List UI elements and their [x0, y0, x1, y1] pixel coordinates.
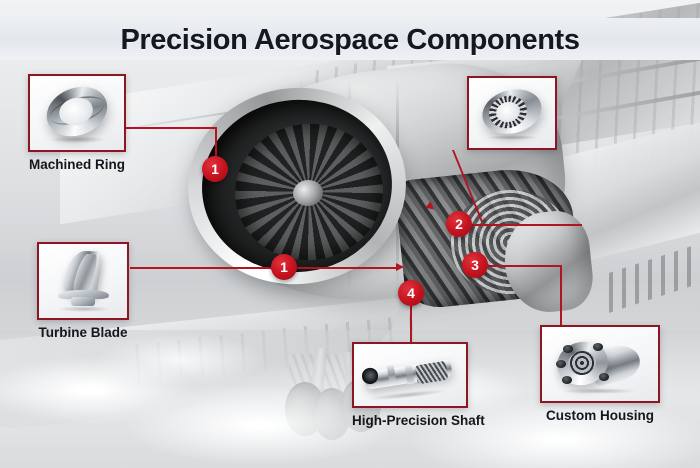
callout-machined-ring[interactable]: Machined Ring [28, 74, 126, 172]
marker-1-top[interactable]: 1 [202, 156, 228, 182]
machined-ring-icon [30, 76, 124, 150]
custom-housing-label: Custom Housing [540, 408, 660, 423]
turbine-blade-image-box[interactable] [37, 242, 129, 320]
leader-line-blade-h2 [297, 267, 397, 269]
machined-ring-label: Machined Ring [28, 157, 126, 172]
leader-line-shaft-v [410, 306, 412, 342]
marker-1-lower[interactable]: 1 [271, 254, 297, 280]
leader-arrow-blade [396, 263, 404, 271]
turbine-blade-icon [39, 244, 127, 318]
page-title: Precision Aerospace Components [0, 20, 700, 60]
callout-ball-bearing[interactable] [467, 76, 557, 155]
marker-3[interactable]: 3 [462, 252, 488, 278]
leader-line-housing-h [488, 265, 560, 267]
leader-line-housing-v [560, 265, 562, 325]
turbine-blade-label: Turbine Blade [37, 325, 129, 340]
marker-2[interactable]: 2 [446, 211, 472, 237]
precision-shaft-image-box[interactable] [352, 342, 468, 408]
precision-shaft-label: High-Precision Shaft [352, 413, 468, 428]
ball-bearing-icon [469, 78, 555, 148]
custom-housing-icon [542, 327, 658, 401]
leader-line-ring-h [125, 127, 217, 129]
custom-housing-image-box[interactable] [540, 325, 660, 403]
callout-precision-shaft[interactable]: High-Precision Shaft [352, 342, 468, 428]
callout-custom-housing[interactable]: Custom Housing [540, 325, 660, 423]
callout-turbine-blade[interactable]: Turbine Blade [37, 242, 129, 340]
leader-line-blade-h [130, 267, 275, 269]
marker-4[interactable]: 4 [398, 280, 424, 306]
leader-line-marker2-h [472, 224, 582, 226]
infographic-canvas: Precision Aerospace Components 1 1 2 3 4… [0, 0, 700, 468]
ball-bearing-image-box[interactable] [467, 76, 557, 150]
machined-ring-image-box[interactable] [28, 74, 126, 152]
precision-shaft-icon [354, 344, 466, 406]
